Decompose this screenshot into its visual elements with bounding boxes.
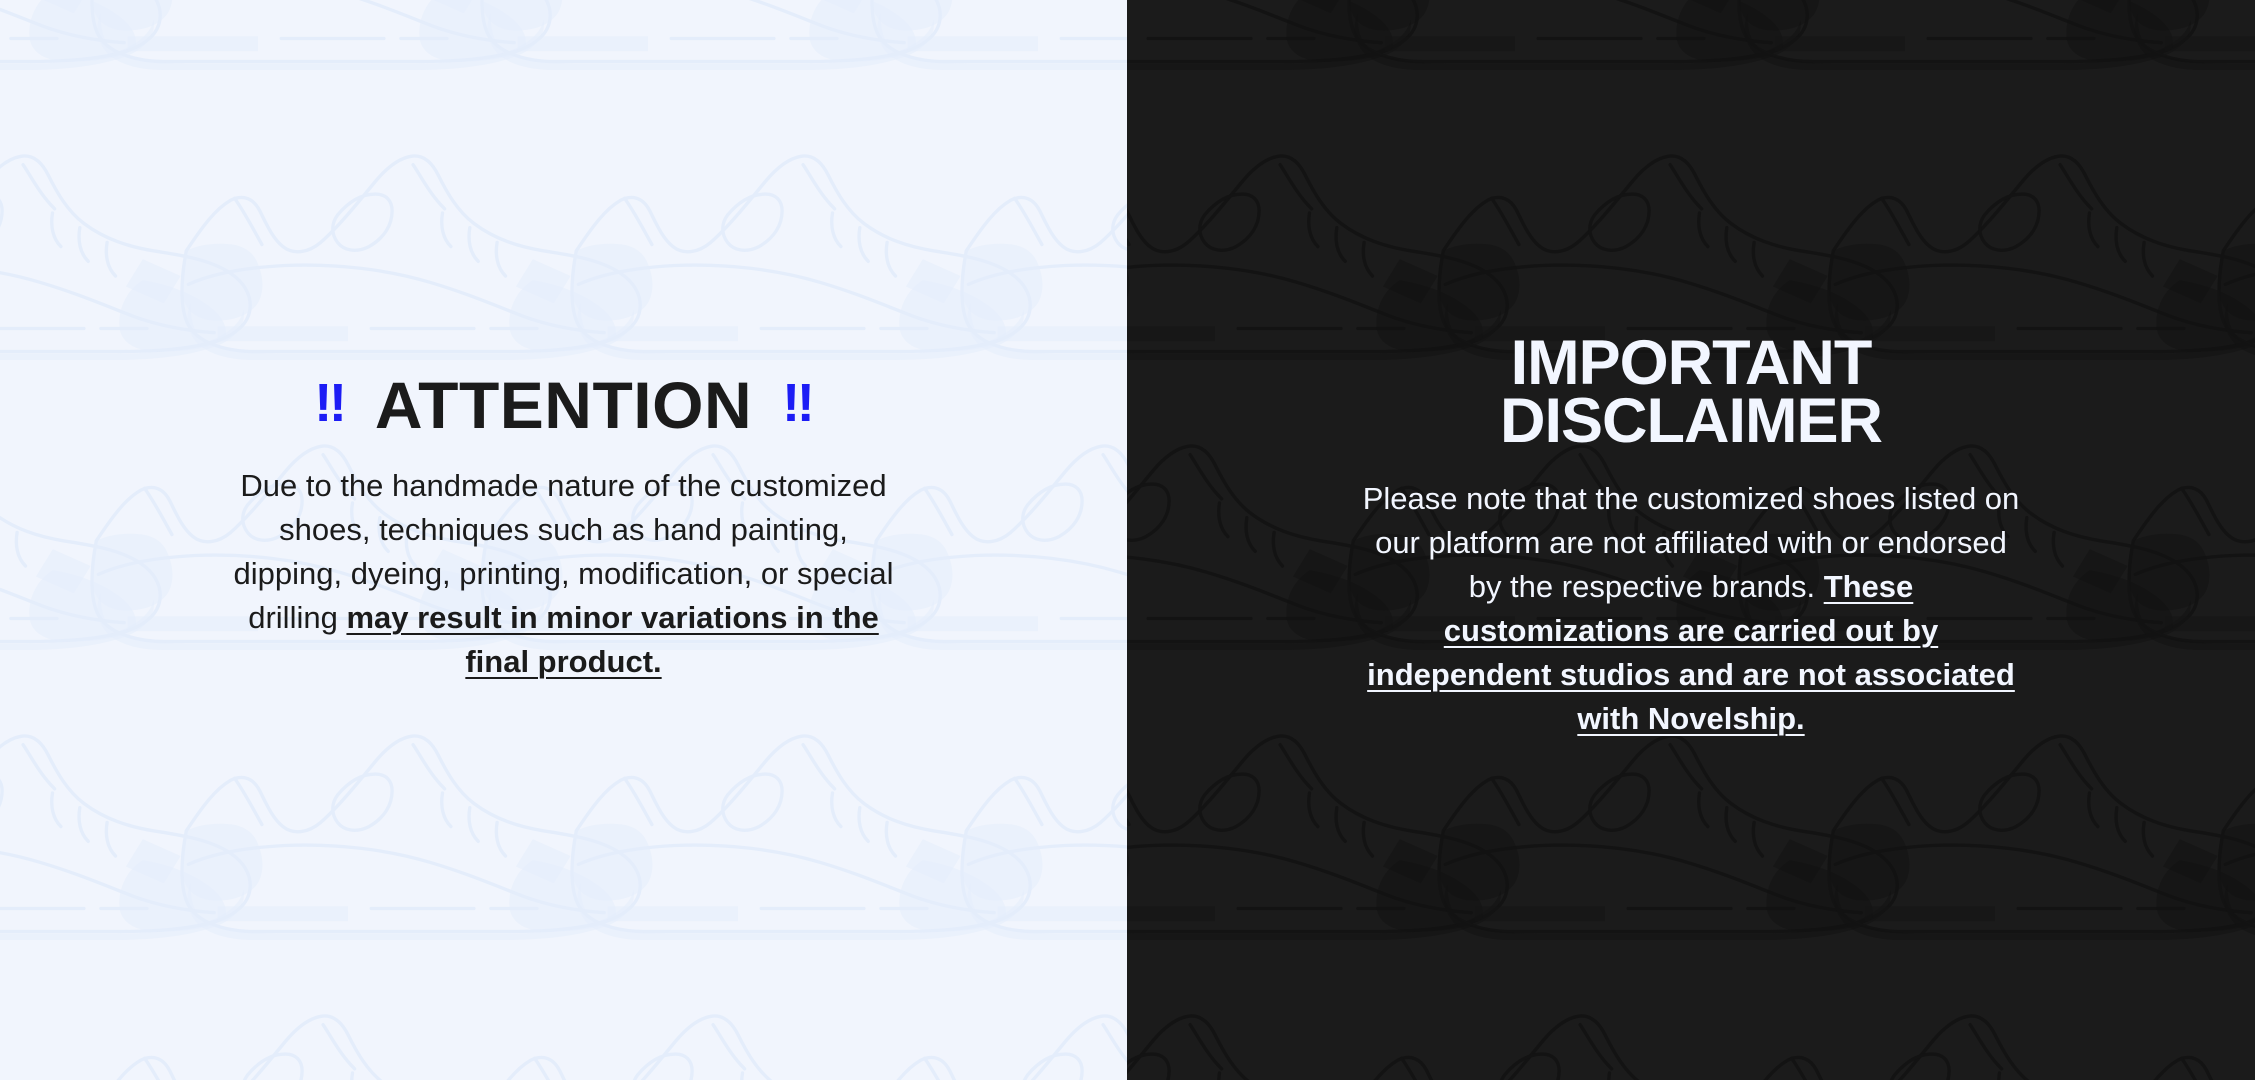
double-exclamation-left-icon: ‼ [314,376,345,430]
disclaimer-content: IMPORTANT DISCLAIMER Please note that th… [1127,0,2255,741]
attention-body-text: Due to the handmade nature of the custom… [234,464,894,684]
disclaimer-headline-line1: IMPORTANT [1167,335,2215,393]
disclaimer-body-normal: Please note that the customized shoes li… [1363,481,2020,604]
disclaimer-headline: IMPORTANT DISCLAIMER [1167,335,2215,451]
double-exclamation-right-icon: ‼ [782,376,813,430]
attention-content: ‼ ATTENTION ‼ Due to the handmade nature… [0,0,1127,684]
disclaimer-body-text: Please note that the customized shoes li… [1361,477,2021,741]
disclaimer-headline-line2: DISCLAIMER [1167,393,2215,451]
attention-headline-word: ATTENTION [375,372,752,438]
disclaimer-banner: ‼ ATTENTION ‼ Due to the handmade nature… [0,0,2255,1080]
attention-headline: ‼ ATTENTION ‼ [40,372,1087,438]
attention-body-emphasis: may result in minor variations in the fi… [346,600,878,679]
disclaimer-panel: IMPORTANT DISCLAIMER Please note that th… [1127,0,2255,1080]
attention-panel: ‼ ATTENTION ‼ Due to the handmade nature… [0,0,1127,1080]
